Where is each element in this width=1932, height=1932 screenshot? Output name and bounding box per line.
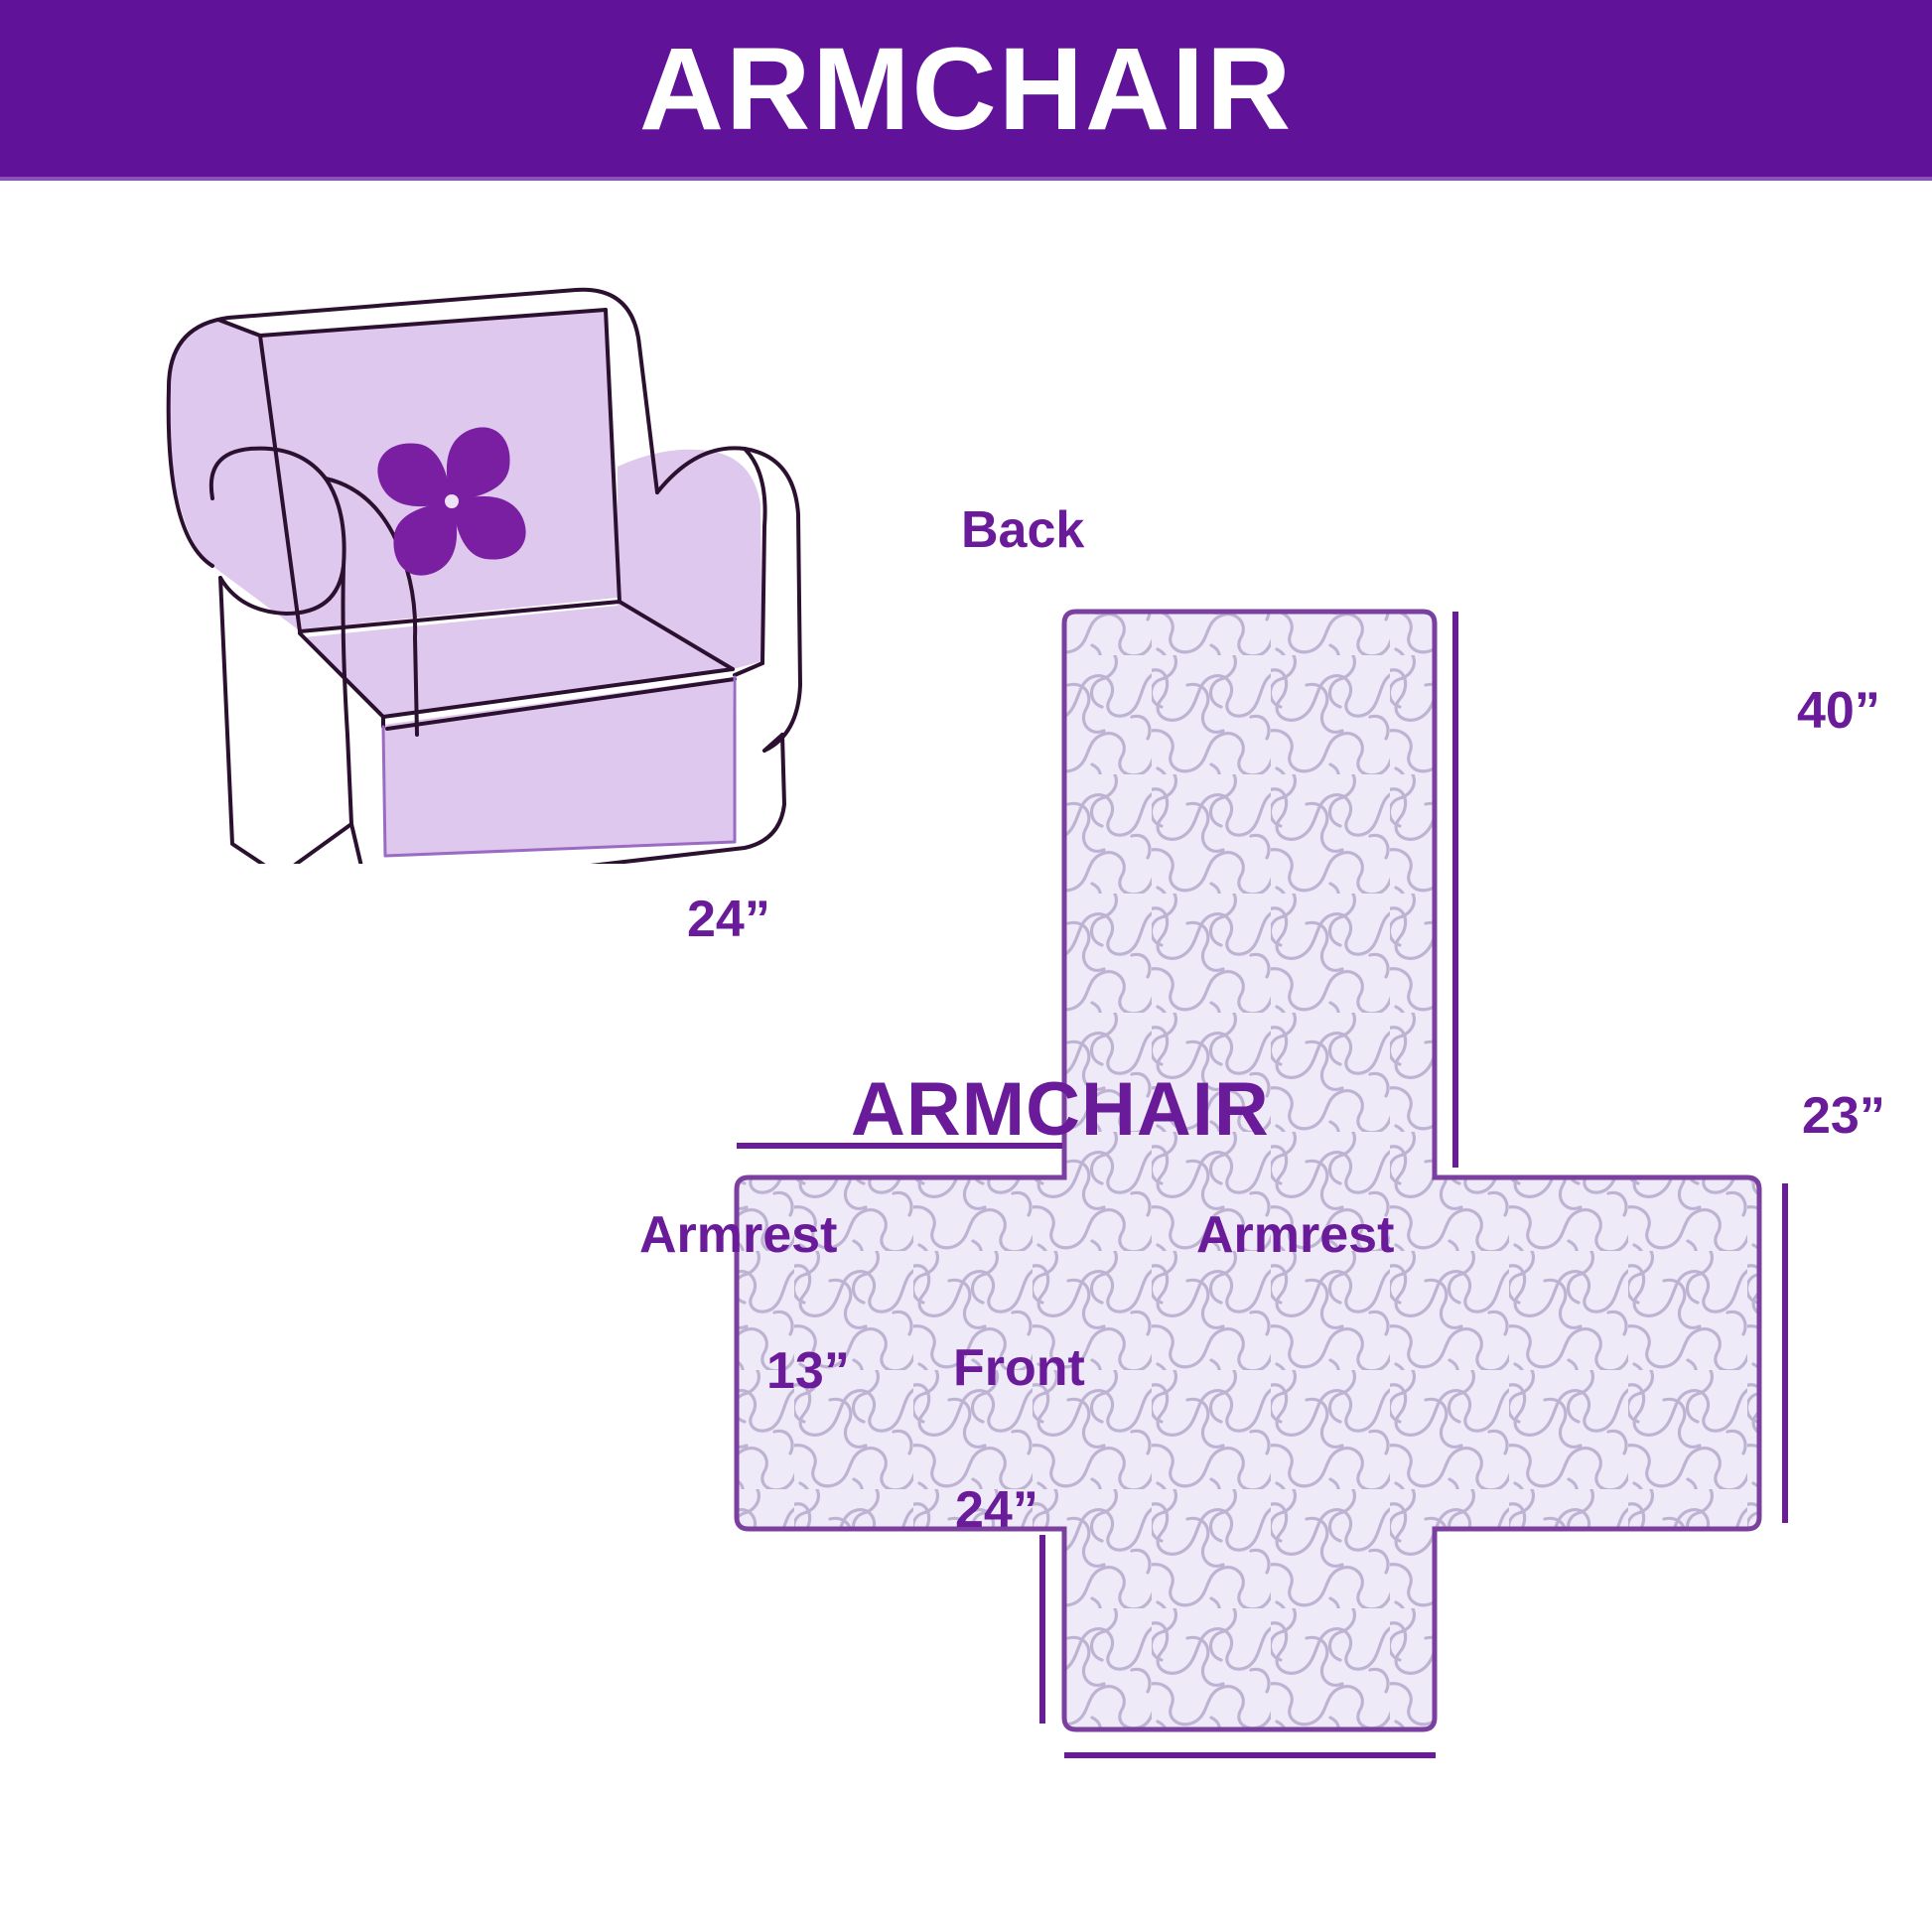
pinwheel-fan-icon <box>377 427 525 575</box>
cross-panel-shape <box>737 612 1759 1729</box>
panel-label-back: Back <box>961 504 1084 556</box>
panel-label-armrest-left: Armrest <box>639 1209 837 1261</box>
panel-label-armrest-right: Armrest <box>1196 1209 1394 1261</box>
product-dimension-diagram: ARMCHAIR <box>0 0 1932 1932</box>
dimension-arm-height: 23” <box>1802 1090 1885 1142</box>
dimension-front-height: 13” <box>766 1345 850 1397</box>
header-banner: ARMCHAIR <box>0 0 1932 179</box>
dimension-back-height: 40” <box>1797 685 1880 737</box>
banner-bottom-edge <box>0 177 1932 181</box>
panel-label-center: ARMCHAIR <box>851 1072 1270 1148</box>
page-title: ARMCHAIR <box>639 31 1293 148</box>
dimension-front-width: 24” <box>955 1484 1038 1536</box>
dimension-arm-left-width: 24” <box>687 894 770 945</box>
slipcover-pattern-diagram <box>556 536 1926 1847</box>
panel-label-front: Front <box>953 1342 1085 1394</box>
